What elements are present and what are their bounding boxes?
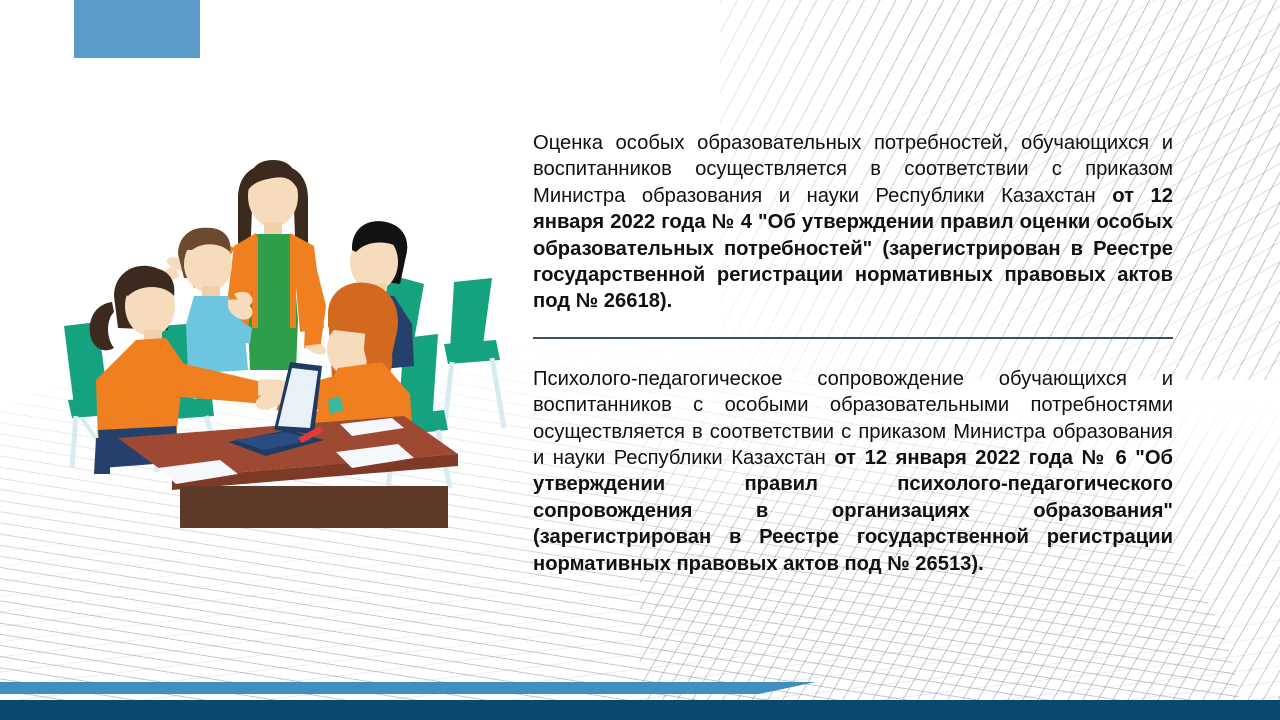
blue-rectangle-icon: [74, 0, 200, 58]
classroom-meeting-illustration: [52, 138, 522, 528]
brand-logo-block: [74, 0, 200, 58]
bottom-footer-bar: [0, 700, 1280, 720]
classroom-illustration-svg: [52, 138, 522, 528]
paragraph-2: Психолого-педагогическое сопровождение о…: [533, 366, 1173, 577]
paragraph-1-plain: Оценка особых образовательных потребност…: [533, 132, 1173, 207]
text-column: Оценка особых образовательных потребност…: [533, 130, 1173, 577]
slide-canvas: Оценка особых образовательных потребност…: [0, 0, 1280, 720]
paragraph-1: Оценка особых образовательных потребност…: [533, 130, 1173, 315]
section-divider: [533, 337, 1173, 339]
laptop: [228, 362, 324, 456]
bottom-accent-bar: [0, 682, 816, 694]
